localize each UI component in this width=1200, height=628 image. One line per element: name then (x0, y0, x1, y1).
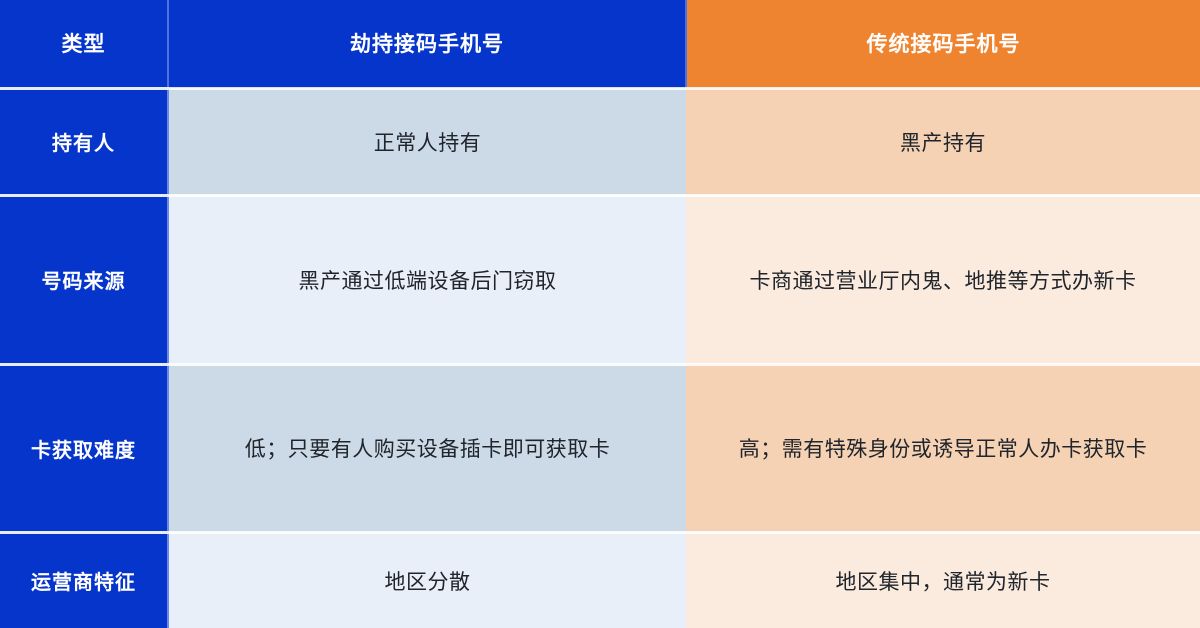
cell-card-difficulty-traditional: 高；需有特殊身份或诱导正常人办卡获取卡 (686, 364, 1200, 532)
header-type-label: 类型 (0, 0, 168, 88)
row-label-number-source: 号码来源 (0, 195, 168, 364)
cell-holder-hijacked: 正常人持有 (168, 88, 686, 195)
table-header-row: 类型 劫持接码手机号 传统接码手机号 (0, 0, 1200, 88)
header-col-traditional: 传统接码手机号 (686, 0, 1200, 88)
row-label-holder: 持有人 (0, 88, 168, 195)
table-row: 号码来源 黑产通过低端设备后门窃取 卡商通过营业厅内鬼、地推等方式办新卡 (0, 195, 1200, 364)
table-row: 运营商特征 地区分散 地区集中，通常为新卡 (0, 532, 1200, 628)
cell-number-source-hijacked: 黑产通过低端设备后门窃取 (168, 195, 686, 364)
header-col-hijacked: 劫持接码手机号 (168, 0, 686, 88)
cell-carrier-feature-hijacked: 地区分散 (168, 532, 686, 628)
comparison-table-container: 威胁猎人 THREAT HUNTER 类型 劫持接码手机号 传统接码手机号 持有… (0, 0, 1200, 628)
cell-card-difficulty-hijacked: 低；只要有人购买设备插卡即可获取卡 (168, 364, 686, 532)
cell-carrier-feature-traditional: 地区集中，通常为新卡 (686, 532, 1200, 628)
comparison-table: 类型 劫持接码手机号 传统接码手机号 持有人 正常人持有 黑产持有 号码来源 黑… (0, 0, 1200, 628)
cell-holder-traditional: 黑产持有 (686, 88, 1200, 195)
table-row: 持有人 正常人持有 黑产持有 (0, 88, 1200, 195)
table-row: 卡获取难度 低；只要有人购买设备插卡即可获取卡 高；需有特殊身份或诱导正常人办卡… (0, 364, 1200, 532)
row-label-card-difficulty: 卡获取难度 (0, 364, 168, 532)
row-label-carrier-feature: 运营商特征 (0, 532, 168, 628)
cell-number-source-traditional: 卡商通过营业厅内鬼、地推等方式办新卡 (686, 195, 1200, 364)
